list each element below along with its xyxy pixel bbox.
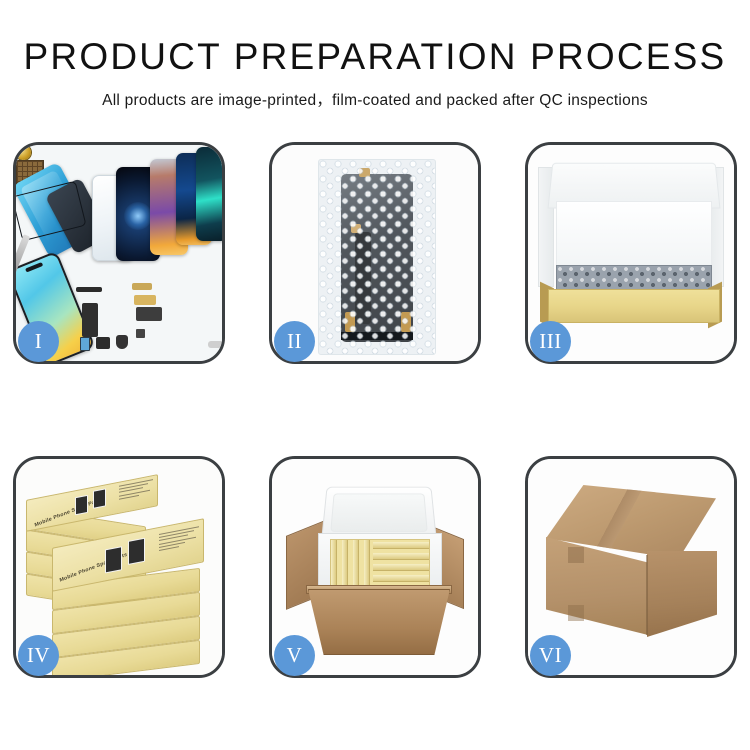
- camera-module-icon: [16, 145, 31, 160]
- bubble-texture-icon: [319, 160, 435, 354]
- panel-stacked-retail-boxes[interactable]: Mobile Phone Spare Parts Mobile Phone Sp…: [13, 456, 225, 678]
- foam-sheet-icon: [556, 201, 712, 267]
- bubble-bag-icon: [318, 159, 436, 355]
- styrofoam-lid-icon: [321, 487, 437, 540]
- carton-patch-1-icon: [568, 547, 584, 563]
- box-tray-front-icon: [548, 289, 720, 323]
- box-window-2-icon: [93, 488, 106, 509]
- carton-body-icon: [308, 589, 450, 655]
- flex-cable-2-icon: [134, 295, 156, 305]
- flex-cable-4-icon: [132, 283, 152, 290]
- phone-display-teal-icon: [196, 147, 222, 241]
- panel-sealed-shipping-carton[interactable]: VI: [525, 456, 737, 678]
- small-part-1-icon: [80, 337, 90, 351]
- part-strip-icon: [76, 287, 102, 292]
- panel-badge: I: [18, 321, 59, 362]
- panel-phones-and-parts[interactable]: I: [13, 142, 225, 364]
- box-print-lines-icon: [119, 479, 153, 502]
- panel-badge: IV: [18, 635, 59, 676]
- panel-badge: V: [274, 635, 315, 676]
- bubble-padding-icon: [556, 265, 712, 291]
- flex-cable-1-icon: [82, 303, 98, 337]
- panel-inner-box-with-foam[interactable]: III: [525, 142, 737, 364]
- screws-icon: [208, 341, 222, 348]
- small-part-3-icon: [136, 329, 145, 338]
- panel-badge: III: [530, 321, 571, 362]
- small-part-2-icon: [96, 337, 110, 349]
- panel-carton-with-styrofoam[interactable]: V: [269, 456, 481, 678]
- box-window-1-icon: [105, 546, 122, 573]
- panel-bubble-wrapped-part[interactable]: II: [269, 142, 481, 364]
- header: PRODUCT PREPARATION PROCESS All products…: [0, 0, 750, 110]
- flex-cable-3-icon: [136, 307, 162, 321]
- carton-seam-icon: [646, 555, 648, 635]
- process-panel-grid: I II III: [13, 142, 737, 694]
- page-title: PRODUCT PREPARATION PROCESS: [0, 38, 750, 77]
- page-subtitle: All products are image-printed，film-coat…: [0, 88, 750, 110]
- panel-badge: II: [274, 321, 315, 362]
- inner-boxes-icon: [330, 539, 430, 589]
- panel-badge: VI: [530, 635, 571, 676]
- box-window-2-icon: [128, 538, 145, 565]
- box-window-1-icon: [75, 495, 88, 516]
- carton-patch-2-icon: [568, 605, 584, 621]
- phone-notch-icon: [25, 262, 43, 272]
- box-print-lines-icon: [159, 526, 199, 553]
- speaker-part-icon: [116, 335, 128, 349]
- carton-side-face-icon: [647, 551, 717, 637]
